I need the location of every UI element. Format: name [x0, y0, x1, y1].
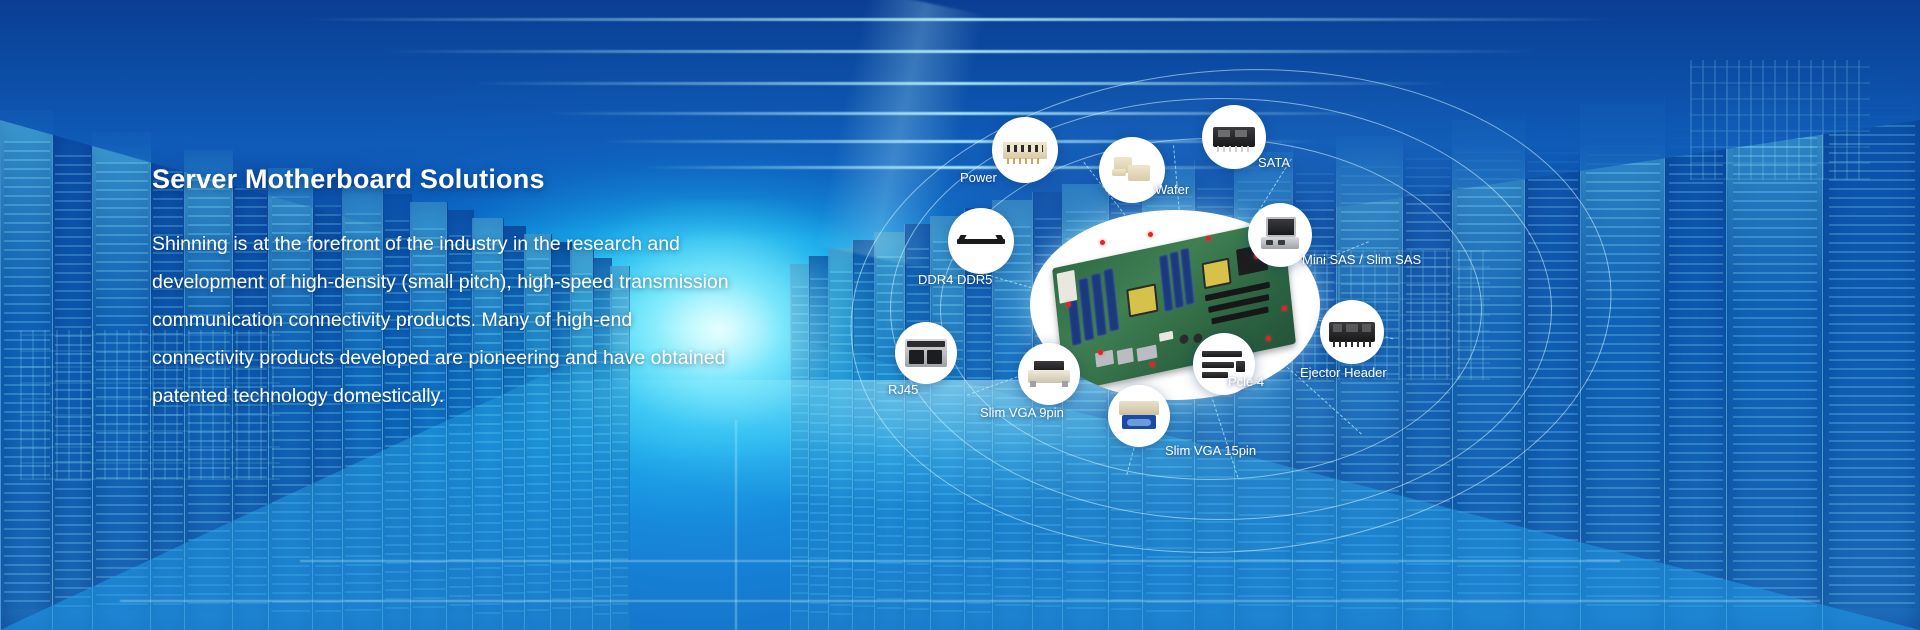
connection-dot: [1206, 236, 1211, 241]
product-label-slim-vga-9pin: Slim VGA 9pin: [980, 405, 1064, 420]
product-label-slim-vga-15pin: Slim VGA 15pin: [1165, 443, 1256, 458]
body-line: development of high-density (small pitch…: [152, 263, 792, 301]
connection-dot: [1098, 350, 1103, 355]
body-line: connectivity products developed are pion…: [152, 339, 792, 377]
connection-dot: [1150, 362, 1155, 367]
connection-dot: [1148, 232, 1153, 237]
body-paragraph: Shinning is at the forefront of the indu…: [152, 225, 792, 415]
connection-dot: [1100, 240, 1105, 245]
product-image-ejector-header[interactable]: [1320, 300, 1384, 364]
product-image-power[interactable]: [992, 117, 1058, 183]
copy-block: Server Motherboard Solutions Shinning is…: [152, 164, 792, 415]
connection-dot: [1266, 336, 1271, 341]
product-label-pcie4: Pcle 4: [1228, 374, 1264, 389]
floor-seam: [120, 600, 1820, 602]
product-label-power: Power: [960, 170, 997, 185]
body-line: patented technology domestically.: [152, 377, 792, 415]
connection-dot: [1066, 302, 1071, 307]
product-image-slim-vga-15pin[interactable]: [1108, 385, 1170, 447]
body-line: communication connectivity products. Man…: [152, 301, 792, 339]
product-label-ddr: DDR4 DDR5: [918, 272, 992, 287]
product-label-ejector-header: Ejector Header: [1300, 365, 1387, 380]
product-label-mini-slim-sas: Mini SAS / Slim SAS: [1302, 252, 1421, 267]
product-label-sata: SATA: [1258, 155, 1290, 170]
product-image-slim-vga-9pin[interactable]: [1018, 343, 1080, 405]
product-image-sata[interactable]: [1202, 105, 1266, 169]
product-image-ddr[interactable]: [948, 208, 1014, 274]
product-label-rj45: RJ45: [888, 382, 918, 397]
product-image-rj45[interactable]: [895, 322, 957, 384]
product-cluster: Power Wafer SATA: [880, 60, 1920, 580]
page-title: Server Motherboard Solutions: [152, 164, 792, 195]
product-label-wafer: Wafer: [1155, 182, 1189, 197]
server-motherboard-banner: Server Motherboard Solutions Shinning is…: [0, 0, 1920, 630]
connection-dot: [1282, 306, 1287, 311]
body-line: Shinning is at the forefront of the indu…: [152, 225, 792, 263]
